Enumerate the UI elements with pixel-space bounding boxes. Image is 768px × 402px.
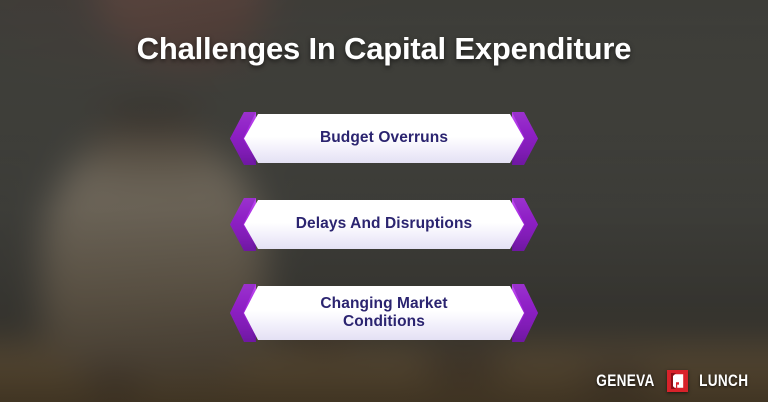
list-item-line: Changing Market: [320, 295, 447, 312]
list-item-line: Delays And Disruptions: [296, 215, 472, 232]
poster-canvas: Challenges In Capital Expenditure: [0, 0, 768, 402]
banner-plate: Budget Overruns: [244, 114, 524, 163]
list-item-label: Budget Overruns: [308, 129, 460, 147]
list-item[interactable]: Budget Overruns: [230, 112, 538, 165]
banner-plate: Changing Market Conditions: [244, 286, 524, 340]
list-item-label: Delays And Disruptions: [284, 215, 484, 233]
list-item[interactable]: Changing Market Conditions: [230, 284, 538, 342]
brand-name-left: GENEVA: [596, 371, 654, 391]
list-item[interactable]: Delays And Disruptions: [230, 198, 538, 251]
g-monogram-icon: [667, 370, 688, 392]
list-item-line: Budget Overruns: [320, 129, 448, 146]
brand-name-right: LUNCH: [699, 371, 748, 391]
challenge-list: Budget Overruns: [0, 112, 768, 342]
page-title: Challenges In Capital Expenditure: [0, 32, 768, 66]
list-item-label: Changing Market Conditions: [308, 295, 459, 332]
brand-logo[interactable]: GENEVA LUNCH: [589, 370, 754, 392]
banner-plate: Delays And Disruptions: [244, 200, 524, 249]
list-item-line: Conditions: [343, 313, 425, 330]
